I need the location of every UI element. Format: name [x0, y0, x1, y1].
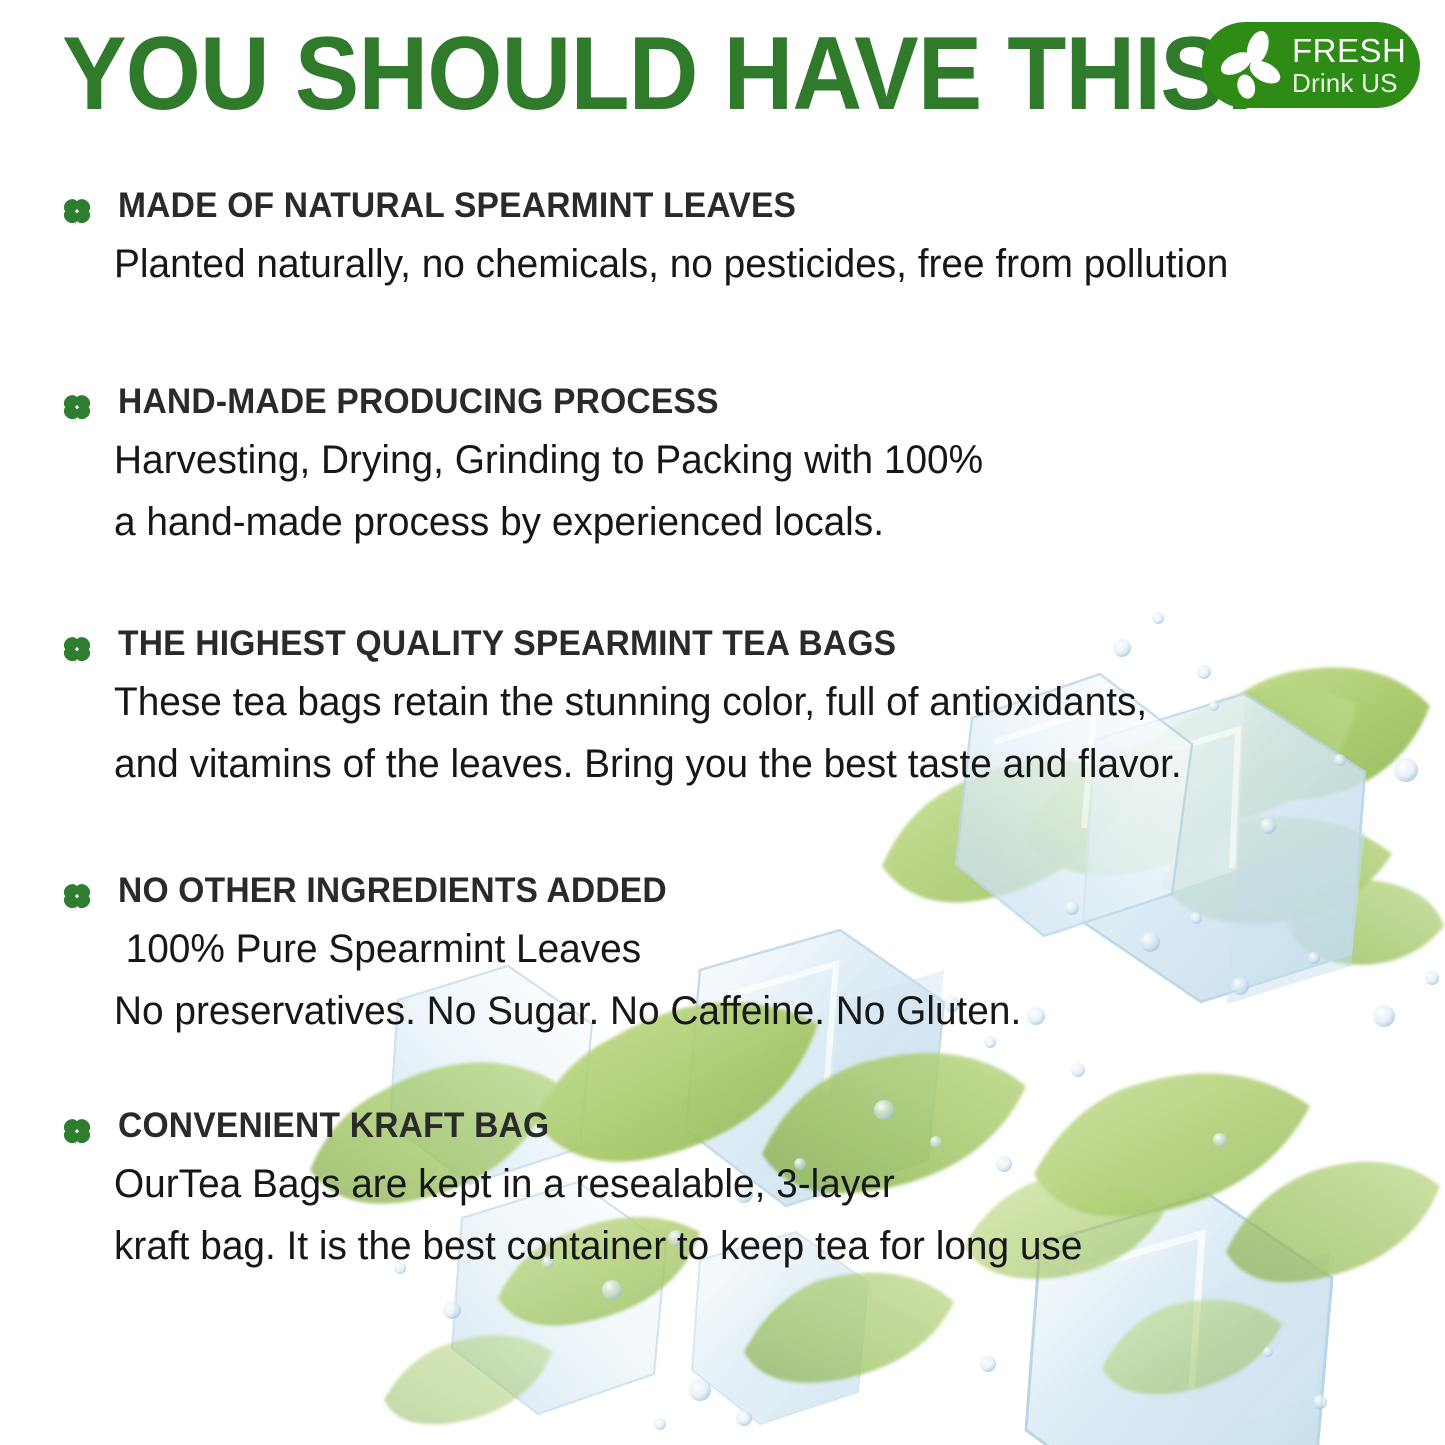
feature-line: These tea bags retain the stunning color…: [114, 671, 1405, 733]
feature-heading: HAND-MADE PRODUCING PROCESS: [118, 382, 1392, 422]
four-leaf-clover-icon: [60, 195, 94, 229]
feature-item: NO OTHER INGREDIENTS ADDED 100% Pure Spe…: [0, 871, 1445, 1106]
feature-line: kraft bag. It is the best container to k…: [114, 1215, 1405, 1277]
four-leaf-clover-icon: [60, 633, 94, 667]
feature-line: No preservatives. No Sugar. No Caffeine.…: [114, 980, 1405, 1042]
product-feature-infographic: YOU SHOULD HAVE THIS! FRESH Drink US: [0, 0, 1445, 1445]
feature-line: 100% Pure Spearmint Leaves: [114, 918, 1405, 980]
feature-item: THE HIGHEST QUALITY SPEARMINT TEA BAGS T…: [0, 624, 1445, 871]
four-leaf-clover-icon: [60, 880, 94, 914]
feature-line: OurTea Bags are kept in a resealable, 3-…: [114, 1153, 1405, 1215]
brand-tagline: Drink US: [1292, 70, 1406, 96]
page-title: YOU SHOULD HAVE THIS!: [62, 22, 1255, 126]
feature-body: These tea bags retain the stunning color…: [114, 671, 1445, 795]
feature-item: MADE OF NATURAL SPEARMINT LEAVES Planted…: [0, 186, 1445, 382]
feature-line: a hand-made process by experienced local…: [114, 491, 1405, 553]
feature-body: Planted naturally, no chemicals, no pest…: [114, 233, 1445, 295]
feature-list: MADE OF NATURAL SPEARMINT LEAVES Planted…: [0, 186, 1445, 1306]
feature-heading: MADE OF NATURAL SPEARMINT LEAVES: [118, 186, 1392, 226]
four-leaf-clover-icon: [60, 391, 94, 425]
feature-line: and vitamins of the leaves. Bring you th…: [114, 733, 1405, 795]
feature-body: OurTea Bags are kept in a resealable, 3-…: [114, 1153, 1445, 1277]
feature-item: CONVENIENT KRAFT BAG OurTea Bags are kep…: [0, 1106, 1445, 1306]
header: YOU SHOULD HAVE THIS! FRESH Drink US: [0, 0, 1445, 150]
leaf-cluster-icon: [1216, 29, 1288, 101]
feature-body: 100% Pure Spearmint Leaves No preservati…: [114, 918, 1445, 1042]
feature-heading: CONVENIENT KRAFT BAG: [118, 1106, 1392, 1146]
feature-line: Harvesting, Drying, Grinding to Packing …: [114, 429, 1405, 491]
brand-logo[interactable]: FRESH Drink US: [1202, 22, 1420, 108]
feature-heading: NO OTHER INGREDIENTS ADDED: [118, 871, 1392, 911]
brand-name: FRESH: [1292, 34, 1406, 67]
feature-body: Harvesting, Drying, Grinding to Packing …: [114, 429, 1445, 553]
four-leaf-clover-icon: [60, 1115, 94, 1149]
feature-line: Planted naturally, no chemicals, no pest…: [114, 233, 1405, 295]
feature-heading: THE HIGHEST QUALITY SPEARMINT TEA BAGS: [118, 624, 1392, 664]
feature-item: HAND-MADE PRODUCING PROCESS Harvesting, …: [0, 382, 1445, 624]
